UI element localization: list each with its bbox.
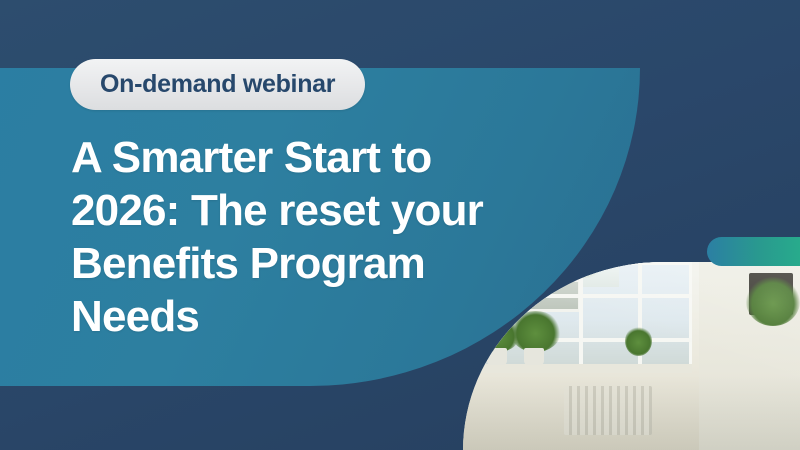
photo-window-mullion: [579, 262, 583, 367]
page-title: A Smarter Start to 2026: The reset your …: [71, 131, 571, 343]
photo-plant: [625, 326, 652, 356]
headline-line-4: Needs: [71, 290, 571, 343]
headline-line-1: A Smarter Start to: [71, 131, 571, 184]
teal-green-accent-bar: [707, 237, 800, 266]
photo-radiator: [564, 386, 652, 435]
badge-label: On-demand webinar: [100, 70, 335, 99]
photo-plant-pot: [487, 348, 507, 365]
headline-line-2: 2026: The reset your: [71, 184, 571, 237]
webinar-banner: On-demand webinar A Smarter Start to 202…: [0, 0, 800, 450]
photo-plant-pot: [524, 348, 544, 365]
on-demand-webinar-badge: On-demand webinar: [70, 59, 365, 110]
photo-plant: [746, 277, 800, 326]
headline-line-3: Benefits Program: [71, 237, 571, 290]
photo-window-sill: [476, 364, 692, 373]
